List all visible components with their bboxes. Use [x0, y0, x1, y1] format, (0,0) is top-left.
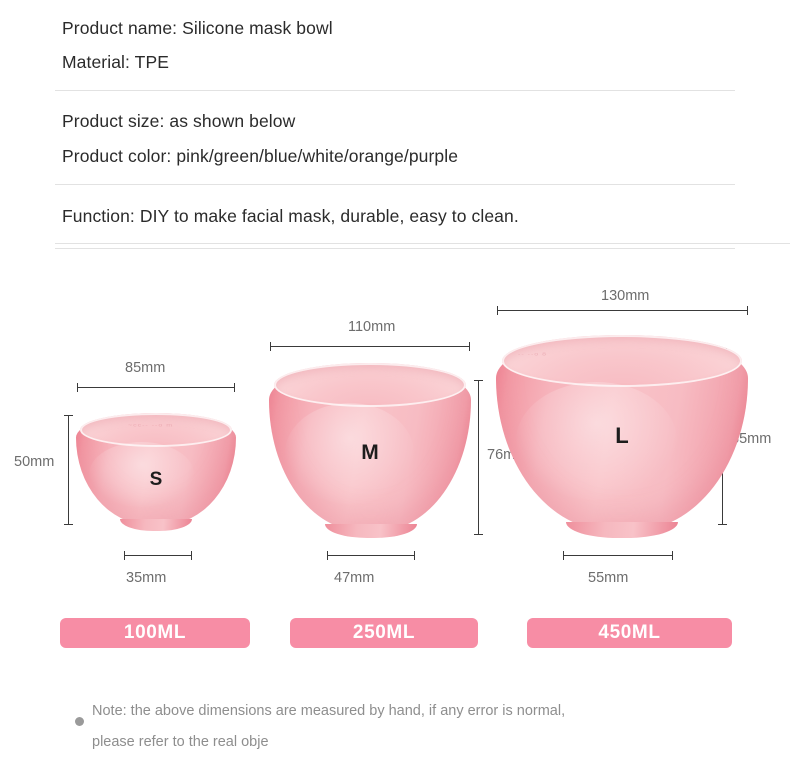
bowl-medium-rim	[274, 363, 466, 407]
dim-line-m-height	[478, 380, 479, 535]
dim-label-l-top-width: 130mm	[601, 288, 649, 304]
bowl-size-diagram: 85mm 50mm ~cc-- --o m S 35mm 110mm 76mm	[0, 243, 790, 603]
volume-badge-small[interactable]: 100ML	[60, 618, 250, 648]
dim-line-s-top-width	[77, 387, 235, 388]
dim-label-s-height: 50mm	[14, 454, 54, 470]
dim-line-m-top-width	[270, 346, 470, 347]
bowl-small-foot	[120, 519, 192, 531]
bowl-small-rim	[80, 413, 232, 447]
note-line-1: Note: the above dimensions are measured …	[62, 696, 752, 727]
bullet-dot-icon	[75, 717, 84, 726]
dim-label-m-base-width: 47mm	[334, 570, 374, 586]
spec-product-size: Product size: as shown below	[0, 91, 790, 148]
dim-line-m-base-width	[327, 555, 415, 556]
dim-label-s-base-width: 35mm	[126, 570, 166, 586]
volume-badge-medium[interactable]: 250ML	[290, 618, 478, 648]
bowl-large-foot	[566, 522, 678, 538]
note-line-2: please refer to the real obje	[62, 727, 752, 758]
footer-note: Note: the above dimensions are measured …	[62, 696, 752, 758]
bowl-medium-foot	[325, 524, 417, 538]
product-spec-block: Product name: Silicone mask bowl Materia…	[0, 0, 790, 249]
spec-group-size-color: Product size: as shown below Product col…	[0, 91, 790, 184]
dim-label-s-top-width: 85mm	[125, 360, 165, 376]
bowl-large-rim-lip	[502, 335, 741, 387]
dim-label-l-base-width: 55mm	[588, 570, 628, 586]
bowl-medium-size-letter: M	[269, 441, 471, 465]
bowl-medium: M	[269, 363, 471, 531]
bowl-small: ~cc-- --o m S	[76, 413, 236, 525]
dim-line-l-base-width	[563, 555, 673, 556]
spec-product-color: Product color: pink/green/blue/white/ora…	[0, 148, 790, 185]
bowl-small-rim-lip	[80, 413, 232, 447]
spec-product-name: Product name: Silicone mask bowl	[0, 0, 790, 54]
spec-function: Function: DIY to make facial mask, durab…	[0, 185, 790, 248]
bowl-large-rim	[502, 335, 741, 387]
bowl-large: -- --o 8 L	[496, 335, 748, 531]
spec-material: Material: TPE	[0, 54, 790, 91]
dim-line-l-top-width	[497, 310, 748, 311]
bowl-medium-rim-lip	[274, 363, 466, 407]
spec-group-identity: Product name: Silicone mask bowl Materia…	[0, 0, 790, 90]
dim-line-s-base-width	[124, 555, 192, 556]
bowl-large-size-letter: L	[496, 423, 748, 449]
volume-badge-large[interactable]: 450ML	[527, 618, 732, 648]
dim-line-s-height	[68, 415, 69, 525]
dim-label-m-top-width: 110mm	[348, 319, 395, 335]
spec-group-function: Function: DIY to make facial mask, durab…	[0, 185, 790, 248]
bowl-small-size-letter: S	[76, 469, 236, 491]
